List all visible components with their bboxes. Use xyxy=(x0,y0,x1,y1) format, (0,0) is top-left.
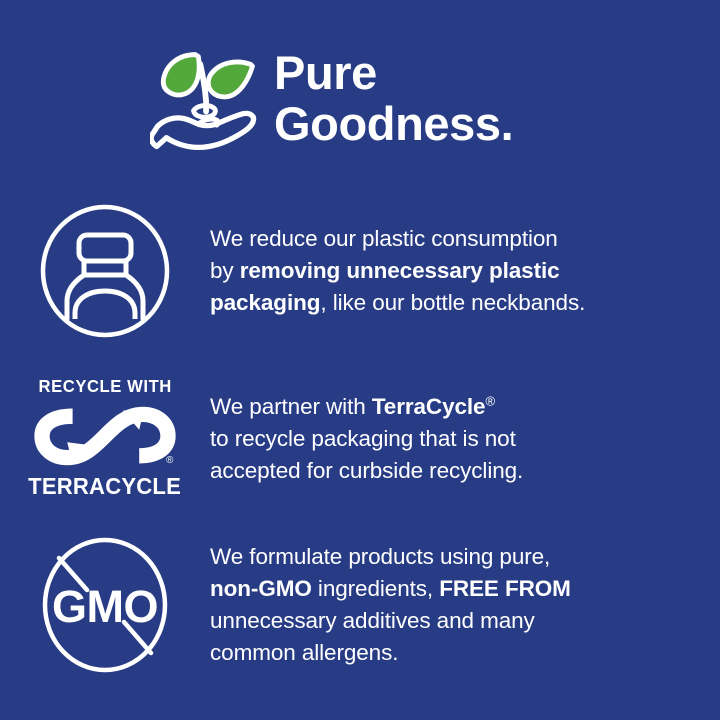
no-gmo-label: GMO xyxy=(52,581,158,632)
bottle-neckband-icon xyxy=(35,201,175,341)
feature-text-non-gmo: We formulate products using pure, non-GM… xyxy=(210,541,720,669)
text-run: removing unnecessary plastic xyxy=(240,258,560,283)
terracycle-logo-icon: RECYCLE WITH ® TERRACYCLE xyxy=(29,378,181,498)
text-run: by xyxy=(210,258,240,283)
pure-goodness-panel: Pure Goodness. We reduce our plastic con… xyxy=(0,0,720,720)
text-run: ingredients, xyxy=(312,576,439,601)
text-line: accepted for curbside recycling. xyxy=(210,455,706,487)
text-run: to recycle packaging that is not xyxy=(210,426,516,451)
text-run: packaging xyxy=(210,290,320,315)
text-run: unnecessary additives and many xyxy=(210,608,535,633)
text-line: We formulate products using pure, xyxy=(210,541,706,573)
text-line: unnecessary additives and many xyxy=(210,605,706,637)
header: Pure Goodness. xyxy=(0,34,720,164)
text-run: We formulate products using pure, xyxy=(210,544,550,569)
feature-row-non-gmo: GMO We formulate products using pure, no… xyxy=(0,520,720,690)
text-line: common allergens. xyxy=(210,637,706,669)
text-run: accepted for curbside recycling. xyxy=(210,458,523,483)
infinity-recycle-loop-icon: ® xyxy=(30,400,180,472)
terracycle-top-label: RECYCLE WITH xyxy=(38,378,171,396)
text-line: packaging, like our bottle neckbands. xyxy=(210,287,706,319)
feature-text-terracycle: We partner with TerraCycle® to recycle p… xyxy=(210,389,720,487)
text-line: to recycle packaging that is not xyxy=(210,423,706,455)
feature-text-plastic-reduction: We reduce our plastic consumption by rem… xyxy=(210,223,720,319)
text-run: non-GMO xyxy=(210,576,312,601)
row-icon-container: GMO xyxy=(0,532,210,678)
text-line: We reduce our plastic consumption xyxy=(210,223,706,255)
feature-row-plastic-reduction: We reduce our plastic consumption by rem… xyxy=(0,188,720,354)
text-line: by removing unnecessary plastic xyxy=(210,255,706,287)
text-run: We partner with xyxy=(210,394,372,419)
text-line: non-GMO ingredients, FREE FROM xyxy=(210,573,706,605)
text-run: We reduce our plastic consumption xyxy=(210,226,558,251)
text-line: We partner with TerraCycle® xyxy=(210,391,706,423)
row-icon-container xyxy=(0,201,210,341)
text-run: , like our bottle neckbands. xyxy=(320,290,585,315)
row-icon-container: RECYCLE WITH ® TERRACYCLE xyxy=(0,378,210,498)
text-run: TerraCycle xyxy=(372,394,486,419)
text-run: FREE FROM xyxy=(439,576,571,601)
no-gmo-icon: GMO xyxy=(32,532,178,678)
terracycle-bottom-label: TERRACYCLE xyxy=(29,475,182,498)
text-run: common allergens. xyxy=(210,640,398,665)
feature-row-terracycle: RECYCLE WITH ® TERRACYCLE We partner wit… xyxy=(0,364,720,512)
page-title: Pure Goodness. xyxy=(274,48,513,150)
text-run: ® xyxy=(485,394,495,409)
hand-holding-sprout-icon xyxy=(150,43,266,159)
registered-mark: ® xyxy=(166,455,174,466)
